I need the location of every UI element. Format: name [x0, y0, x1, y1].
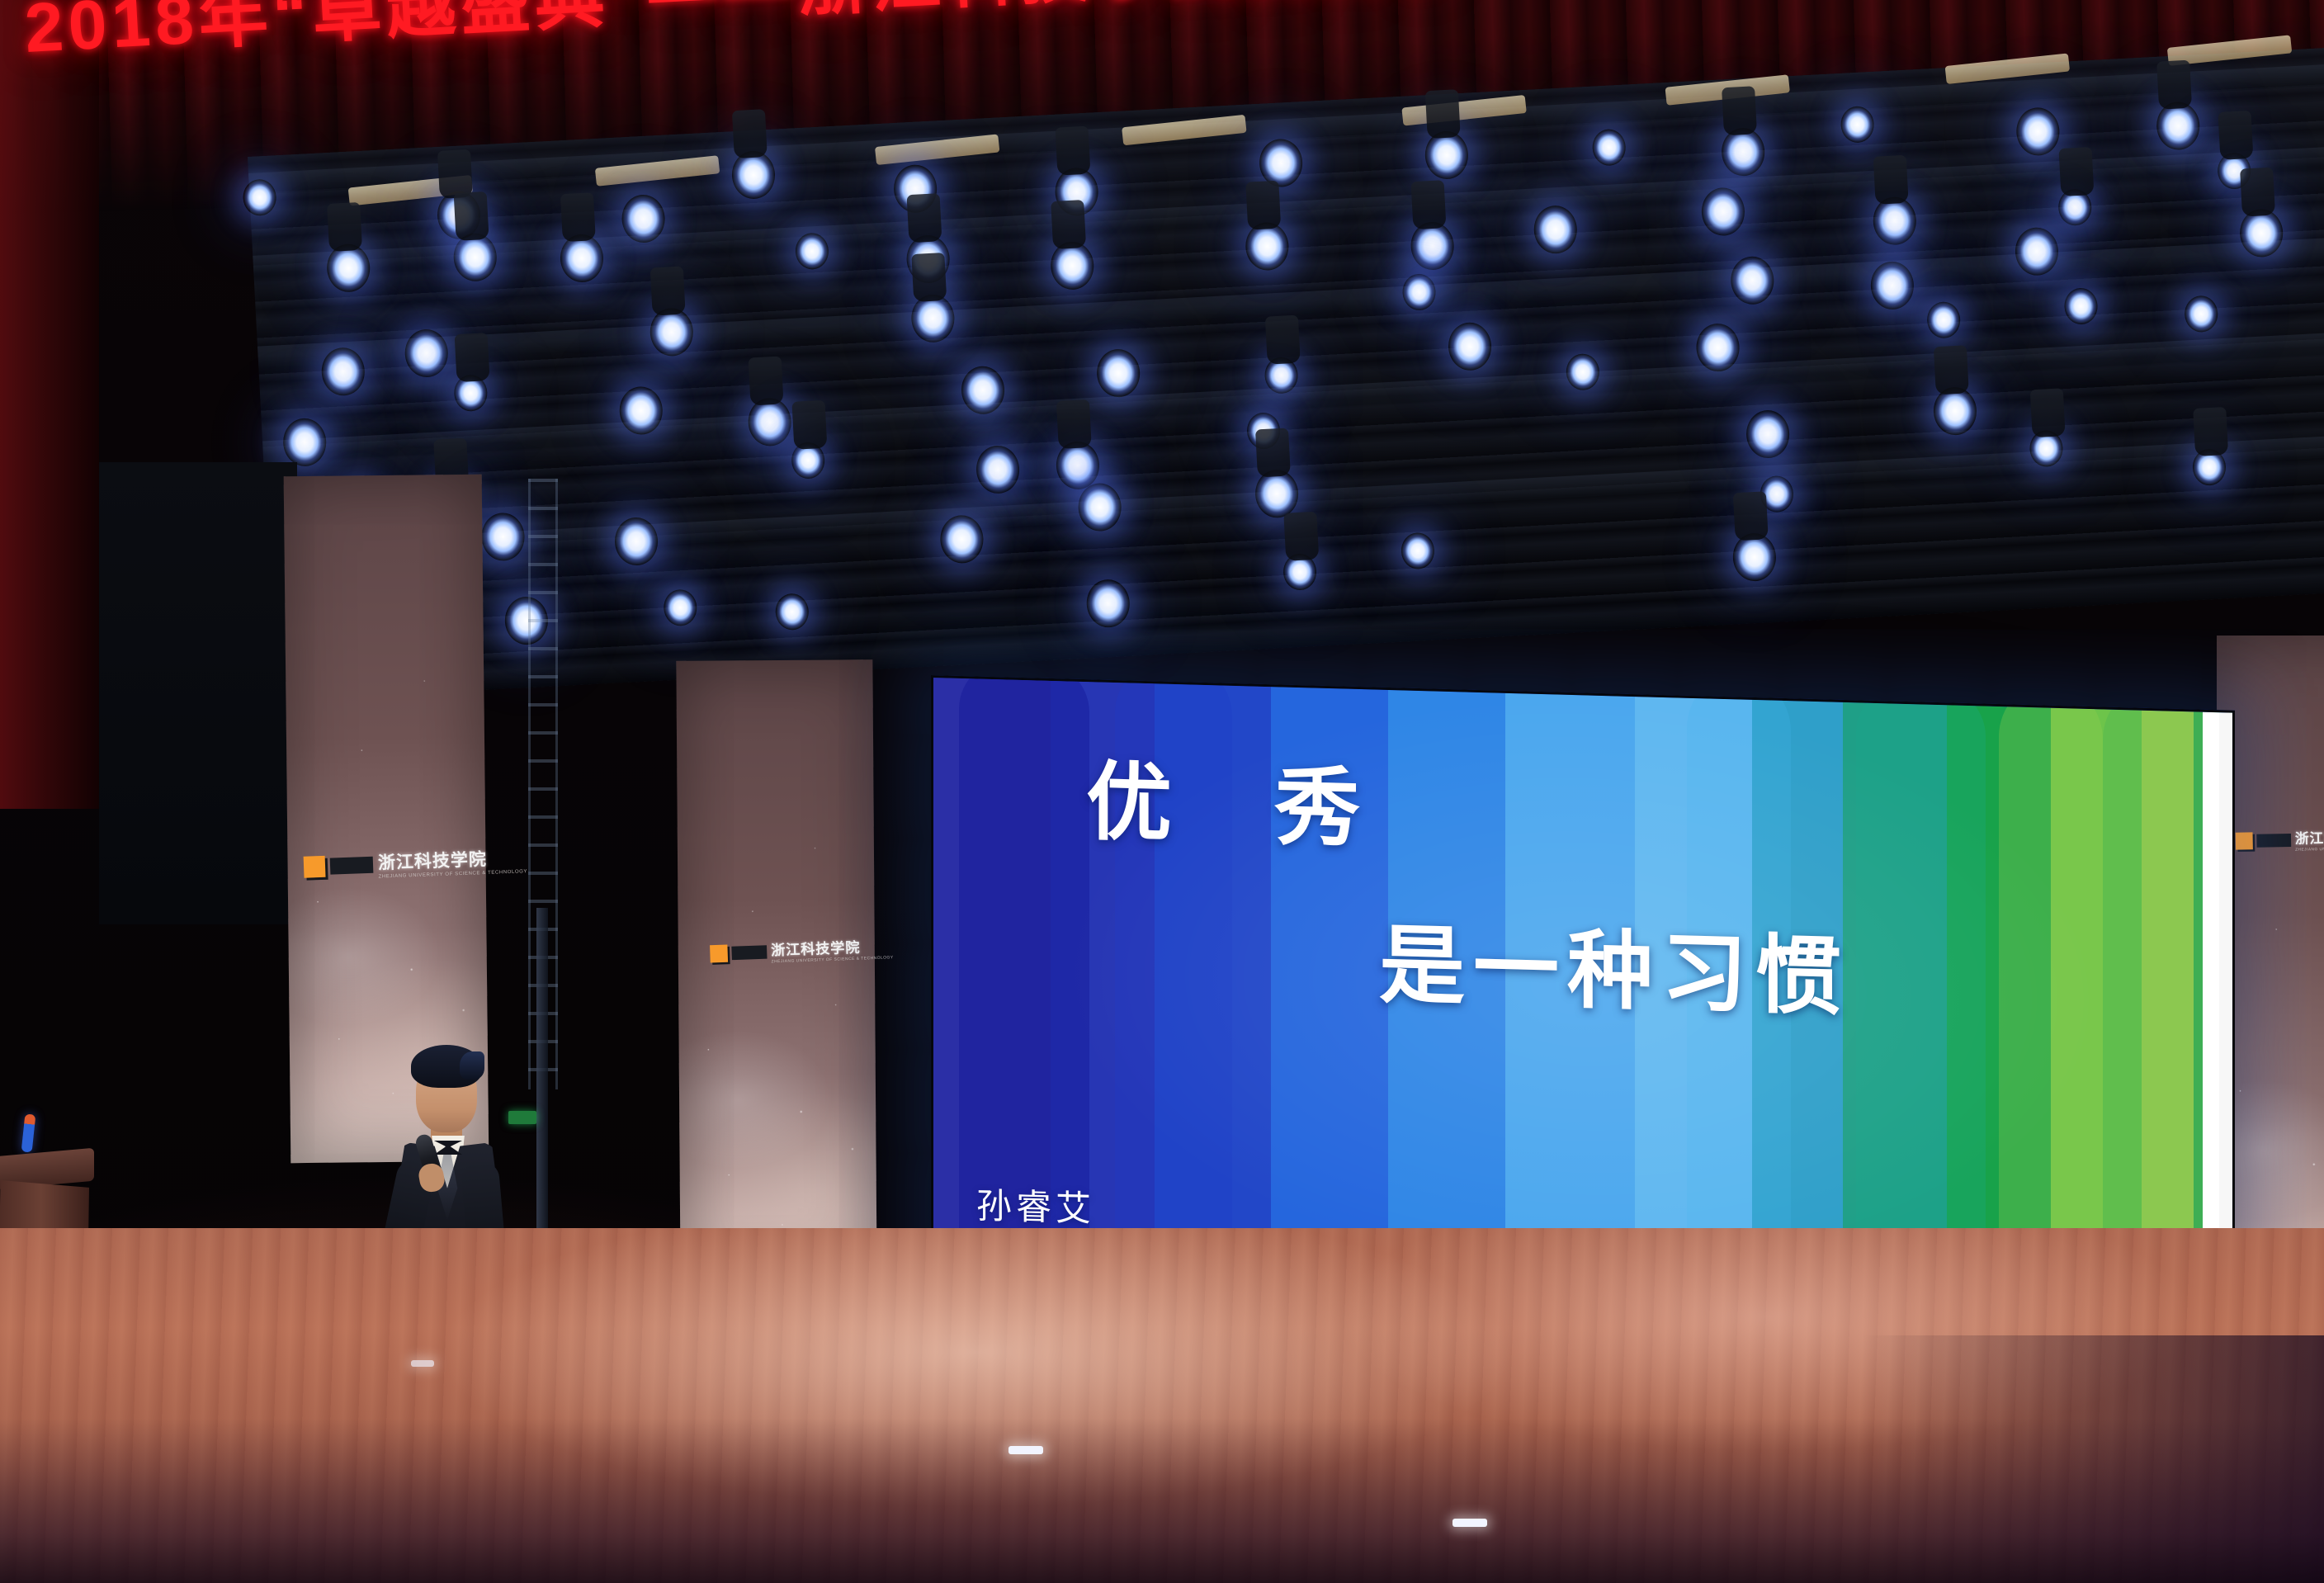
stage-lamp: [404, 328, 450, 379]
lamp-fixture-body: [732, 109, 768, 158]
logo-lockup-right: 浙江科 ZHEJIANG UNIVERSITY: [2236, 827, 2324, 853]
lamp-fixture-body: [911, 253, 947, 302]
lamp-fixture-body: [560, 192, 596, 242]
logo-orange-mark: [2236, 832, 2253, 849]
floor-marker-tape-1: [1008, 1446, 1043, 1454]
stage-lamp: [1533, 205, 1578, 255]
stage-lamp: [1840, 106, 1874, 144]
lamp-fixture-body: [2218, 111, 2253, 160]
lamp-fixture-body: [749, 356, 784, 405]
flat-sparkle-texture: [676, 659, 876, 1288]
stage-lamp: [1401, 532, 1435, 569]
logo-chinese-name: 浙江科技学院: [771, 939, 861, 958]
lamp-fixture-body: [1732, 491, 1768, 541]
stage-lamp: [774, 593, 809, 631]
logo-orange-mark: [304, 856, 326, 878]
backstage-tower-left: [99, 462, 297, 924]
slide-headline-line2: 是一种习惯: [1379, 895, 1849, 1032]
stage-lamp: [663, 588, 697, 626]
lamp-fixture-body: [1055, 125, 1090, 175]
floor-foreground-shadow: [0, 1418, 2324, 1583]
stage-floor: [0, 1228, 2324, 1583]
logo-chinese-name: 浙江科技学院: [378, 849, 488, 873]
lamp-fixture-body: [2058, 147, 2094, 196]
stage-lamp: [1592, 129, 1627, 167]
logo-dark-bar: [2256, 834, 2291, 848]
lamp-fixture-body: [792, 400, 828, 450]
stage-lamp: [2184, 295, 2218, 333]
lamp-fixture-body: [1933, 346, 1968, 395]
floor-marker-tape-2: [1452, 1519, 1487, 1527]
stage-lamp: [2015, 106, 2061, 157]
lamp-fixture-body: [2193, 407, 2228, 456]
stage-lamp: [1078, 483, 1123, 533]
lamp-fixture-body: [649, 267, 685, 316]
logo-orange-mark: [710, 944, 728, 962]
stage-lamp: [649, 307, 694, 357]
lamp-fixture-body: [1245, 181, 1281, 230]
lamp-fixture-body: [2030, 388, 2066, 437]
stage-lamp: [1745, 409, 1791, 460]
stage-photo-scene: 2018年“卓越盛典”——浙江科技学院优秀学 浙江科技学院 ZHEJIANG U…: [0, 0, 2324, 1583]
stage-lamp: [975, 445, 1020, 495]
stage-lamp: [480, 512, 526, 562]
logo-dark-bar: [330, 857, 374, 875]
lamp-fixture-body: [1051, 200, 1086, 249]
floor-marker-tape-3: [411, 1360, 434, 1367]
scenic-flat-middle: [676, 659, 876, 1288]
slide-author-name: 孙睿艾: [976, 1177, 1095, 1231]
stage-lamp: [1926, 301, 1961, 339]
logo-chinese-name: 浙江科: [2295, 830, 2324, 847]
stage-lamp: [1085, 579, 1131, 629]
lamp-fixture-body: [1411, 180, 1447, 229]
stage-lamp: [1721, 127, 1766, 177]
stage-lamp: [1095, 348, 1141, 399]
lamp-fixture-body: [1873, 154, 1909, 204]
presenter-hair: [411, 1045, 482, 1088]
stage-lamp: [1730, 256, 1775, 306]
lamp-fixture-body: [1425, 89, 1461, 139]
stage-lamp: [2064, 287, 2099, 325]
lamp-fixture-body: [1255, 428, 1291, 478]
lamp-fixture-body: [1056, 399, 1092, 449]
stage-lamp: [1448, 322, 1493, 372]
slide-headline-line1: 优 秀: [1086, 731, 1396, 864]
lamp-fixture-body: [1283, 512, 1319, 561]
logo-dark-bar: [731, 945, 767, 960]
lamp-fixture-body: [906, 193, 942, 243]
lamp-fixture-body: [2156, 60, 2192, 110]
lamp-fixture-body: [454, 191, 489, 241]
lighting-truss: [248, 48, 2324, 701]
lamp-fixture-body: [455, 333, 490, 382]
lamp-fixture-body: [327, 202, 362, 252]
lamp-fixture-body: [1265, 315, 1301, 365]
logo-english-name: ZHEJIANG UNIVERSITY: [2295, 847, 2324, 852]
lamp-fixture-body: [2240, 168, 2275, 217]
lamp-fixture-body: [1722, 87, 1757, 136]
red-curtain-left-leg: [0, 0, 99, 809]
